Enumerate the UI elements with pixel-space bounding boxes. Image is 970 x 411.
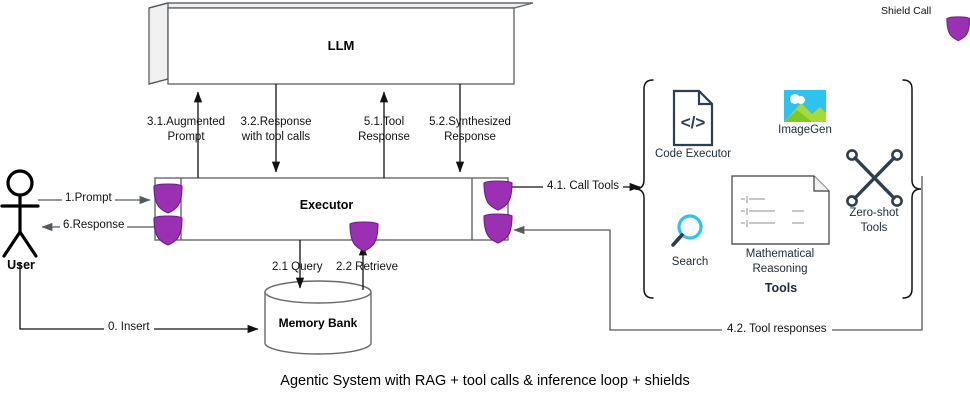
edge-label-query: 2.1 Query <box>272 261 323 273</box>
tool-label-line2: Tools <box>833 221 915 236</box>
diagram-caption: Agentic System with RAG + tool calls & i… <box>0 373 970 389</box>
edge-label-call-tools: 4.1. Call Tools <box>543 180 623 192</box>
edge-label-line2: Prompt <box>138 130 234 145</box>
tool-label-search: Search <box>661 256 719 268</box>
edge-label-insert: 0. Insert <box>104 321 154 333</box>
edge-label-tool-responses: 4.2. Tool responses <box>722 323 832 335</box>
edge-label-tool-response: 5.1.Tool Response <box>341 115 427 145</box>
edge-label-augmented-prompt: 3.1.Augmented Prompt <box>138 115 234 145</box>
tool-label-zero-shot-tools: Zero-shot Tools <box>833 206 915 236</box>
edge-label-response-tool-calls: 3.2.Response with tool calls <box>228 115 324 145</box>
edge-label-line1: 5.2.Synthesized <box>424 115 516 130</box>
edge-label-synthesized-response: 5.2.Synthesized Response <box>424 115 516 145</box>
edge-label-prompt: 1.Prompt <box>62 192 115 204</box>
tool-label-line1: Mathematical <box>730 247 830 262</box>
edge-label-line2: Response <box>341 130 427 145</box>
edge-label-line1: 3.2.Response <box>228 115 324 130</box>
legend-shield-label: Shield Call <box>881 5 931 17</box>
edge-label-line2: Response <box>424 130 516 145</box>
executor-label: Executor <box>181 198 472 212</box>
edge-label-response: 6.Response <box>60 219 127 231</box>
tool-label-line2: Reasoning <box>730 262 830 277</box>
tool-label-code-executor: Code Executor <box>646 148 740 160</box>
tool-label-line1: Zero-shot <box>833 206 915 221</box>
edge-label-line1: 3.1.Augmented <box>138 115 234 130</box>
tools-group-label: Tools <box>731 281 831 295</box>
memory-bank-label: Memory Bank <box>265 316 371 330</box>
edge-label-line1: 5.1.Tool <box>341 115 427 130</box>
edge-label-retrieve: 2.2 Retrieve <box>336 261 398 273</box>
tool-label-imagegen: ImageGen <box>763 124 847 136</box>
tool-label-mathematical-reasoning: Mathematical Reasoning <box>730 247 830 277</box>
edge-label-line2: with tool calls <box>228 130 324 145</box>
user-label: User <box>0 258 42 272</box>
llm-label: LLM <box>168 38 514 53</box>
diagram-canvas: </> <box>0 0 970 411</box>
